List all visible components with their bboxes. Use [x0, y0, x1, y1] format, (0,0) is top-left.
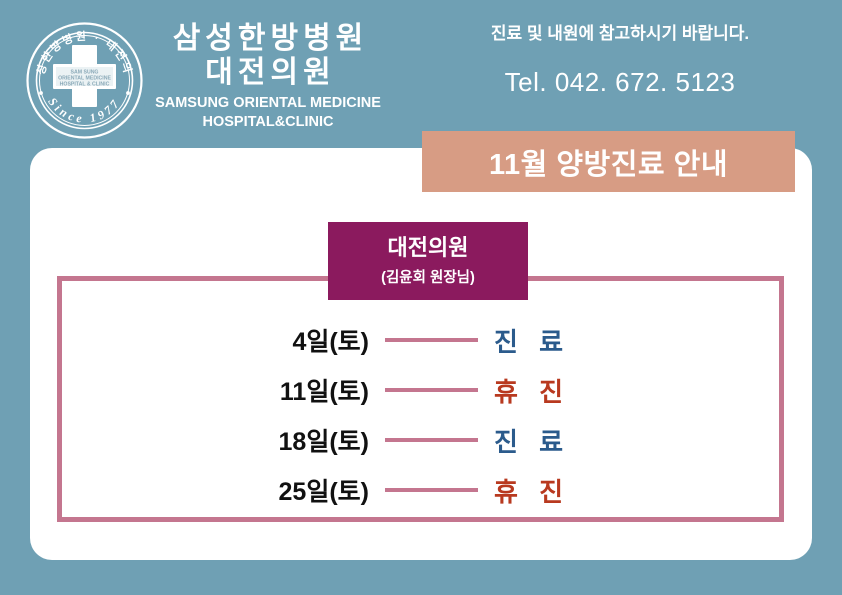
schedule-row-status: 휴 진	[494, 372, 570, 409]
contact-note: 진료 및 내원에 참고하시기 바랍니다.	[420, 22, 820, 46]
clinic-doctor-name: (김윤회 원장님)	[381, 270, 475, 287]
schedule-row-date: 18일(토)	[57, 422, 369, 458]
clinic-header-chip: 대전의원 (김윤회 원장님)	[328, 222, 528, 300]
page-title: 11월 양방진료 안내	[489, 141, 728, 183]
schedule-row-date: 4일(토)	[57, 322, 369, 358]
hospital-brand-name: 삼성한방병원 대전의원 SAMSUNG ORIENTAL MEDICINE HO…	[148, 22, 388, 132]
schedule-row-connector-line	[385, 488, 478, 492]
schedule-row-connector-line	[385, 388, 478, 392]
brand-korean-line-1: 삼성한방병원	[148, 22, 388, 56]
schedule-row-status: 진 료	[494, 422, 570, 459]
schedule-row-date: 25일(토)	[57, 472, 369, 508]
schedule-row: 4일(토) 진 료	[57, 315, 784, 365]
svg-text:HOSPITAL & CLINIC: HOSPITAL & CLINIC	[60, 82, 110, 88]
brand-english-line-1: SAMSUNG ORIENTAL MEDICINE	[148, 94, 388, 113]
schedule-row-date: 11일(토)	[57, 372, 369, 408]
schedule-row: 25일(토) 휴 진	[57, 465, 784, 515]
contact-telephone: Tel. 042. 672. 5123	[420, 64, 820, 100]
schedule-row: 18일(토) 진 료	[57, 415, 784, 465]
schedule-row-connector-line	[385, 338, 478, 342]
title-banner: 11월 양방진료 안내	[422, 131, 795, 192]
poster-header: 삼성한방병원 · 대전의원 Since 1977 SAM SUNG ORIENT…	[0, 0, 842, 148]
brand-korean-line-2: 대전의원	[148, 56, 388, 90]
notice-poster: 삼성한방병원 · 대전의원 Since 1977 SAM SUNG ORIENT…	[0, 0, 842, 595]
schedule-row-status: 휴 진	[494, 472, 570, 509]
schedule-row-status: 진 료	[494, 322, 570, 359]
schedule-row: 11일(토) 휴 진	[57, 365, 784, 415]
clinic-name: 대전의원	[388, 235, 469, 261]
brand-english-line-2: HOSPITAL&CLINIC	[148, 113, 388, 132]
schedule-rows: 4일(토) 진 료 11일(토) 휴 진 18일(토) 진 료 25일(토) 휴…	[57, 315, 784, 515]
contact-info: 진료 및 내원에 참고하시기 바랍니다. Tel. 042. 672. 5123	[420, 22, 820, 100]
schedule-row-connector-line	[385, 438, 478, 442]
hospital-emblem-icon: 삼성한방병원 · 대전의원 Since 1977 SAM SUNG ORIENT…	[25, 21, 144, 140]
